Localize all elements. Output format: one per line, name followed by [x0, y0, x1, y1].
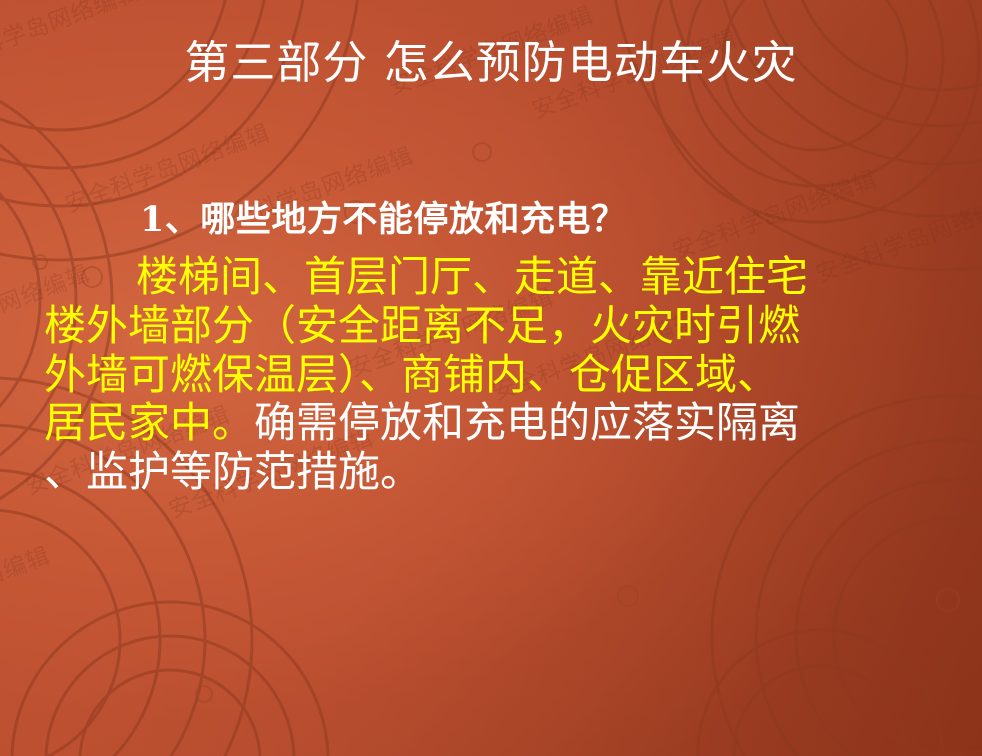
answer-paragraph: 楼梯间、首层门厅、走道、靠近住宅楼外墙部分（安全距离不足，火灾时引燃外墙可燃保温…: [44, 253, 940, 497]
paragraph-line: 居民家中。确需停放和充电的应落实隔离: [44, 399, 940, 448]
watermark-text: 安全科学岛网络编辑: [0, 545, 54, 640]
watermark-text: 安全科学岛网络编辑: [854, 0, 982, 5]
paragraph-line: 、监护等防范措施。: [44, 448, 940, 497]
question-heading: 1、哪些地方不能停放和充电？: [44, 196, 940, 243]
presentation-slide: 安全科学岛网络编辑 安全科学岛网络编辑 安全科学岛网络编辑 安全科学岛网络编辑 …: [0, 0, 982, 756]
paragraph-line: 楼梯间、首层门厅、走道、靠近住宅: [44, 253, 940, 302]
slide-body: 1、哪些地方不能停放和充电？ 楼梯间、首层门厅、走道、靠近住宅楼外墙部分（安全距…: [44, 196, 940, 497]
paragraph-line: 外墙可燃保温层）、商铺内、仓促区域、: [44, 351, 940, 400]
paragraph-line: 楼外墙部分（安全距离不足，火灾时引燃: [44, 302, 940, 351]
paragraph-segment: 确需停放和充电的应落实隔离: [254, 398, 800, 447]
paragraph-segment: 楼外墙部分（安全距离不足，火灾时引燃: [44, 301, 800, 350]
paragraph-segment: 外墙可燃保温层）、商铺内、仓促区域、: [44, 350, 779, 399]
paragraph-segment: 、监护等防范措施。: [44, 447, 422, 496]
paragraph-segment: 居民家中。: [44, 398, 254, 447]
slide-title: 第三部分 怎么预防电动车火灾: [0, 36, 982, 89]
paragraph-segment: 楼梯间、首层门厅、走道、靠近住宅: [136, 252, 808, 301]
